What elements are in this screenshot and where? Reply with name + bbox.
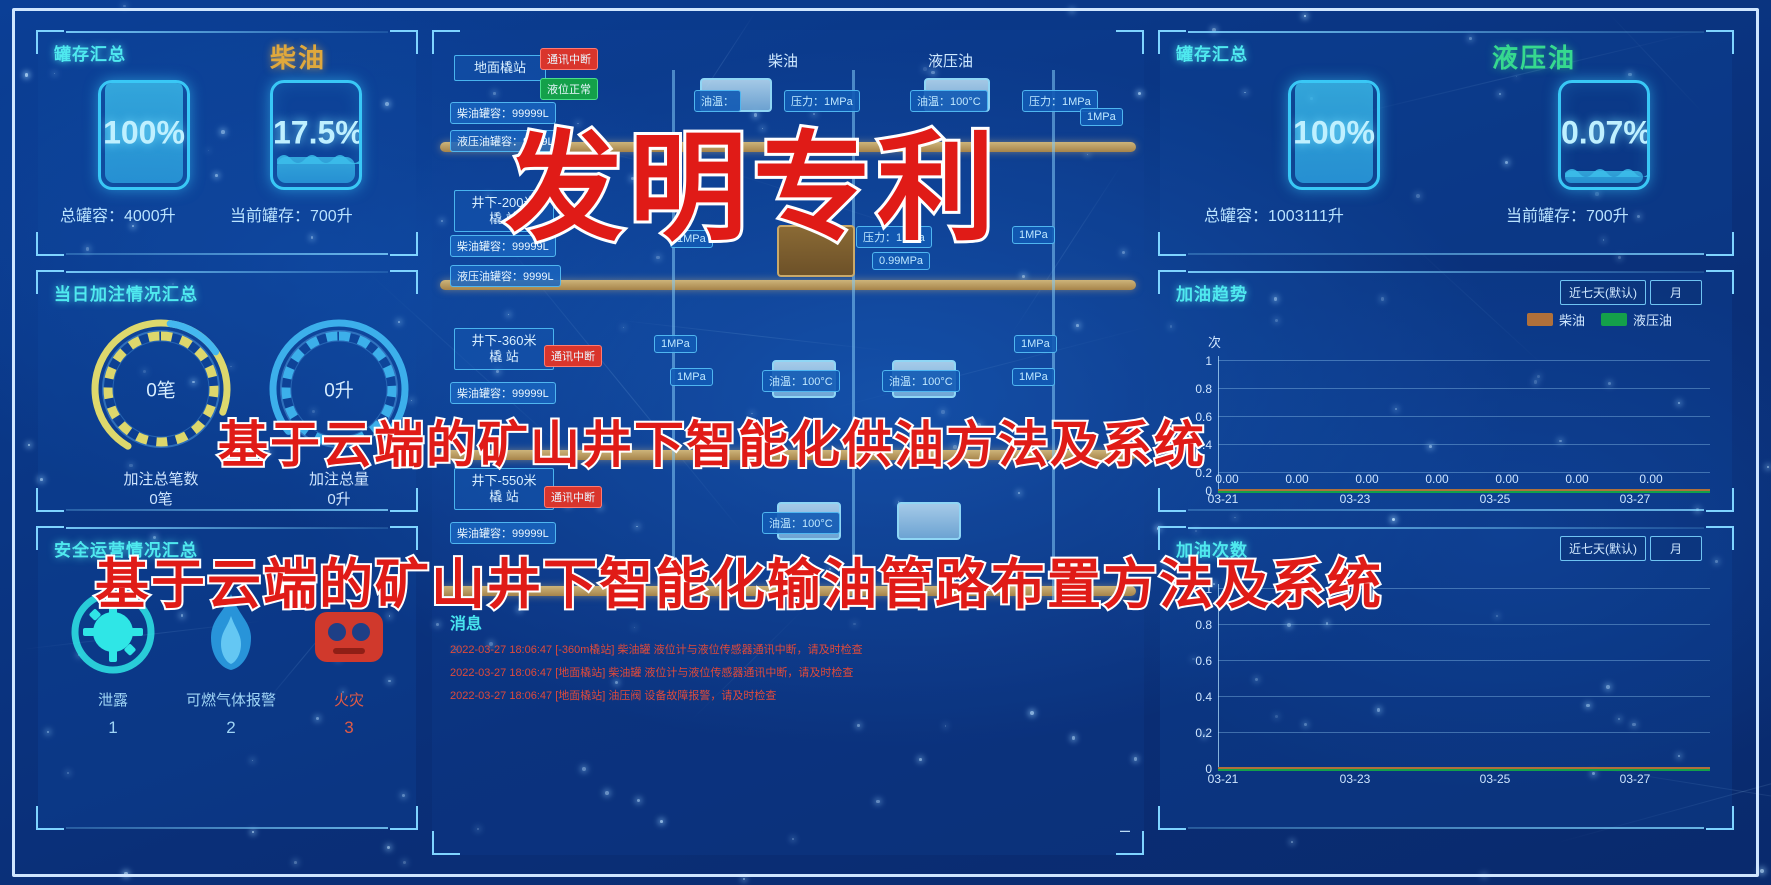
tank-gauge-current: 0.07% bbox=[1558, 80, 1650, 190]
particle-dot bbox=[25, 73, 29, 77]
panel-edge bbox=[66, 31, 388, 33]
range-select-seven-days[interactable]: 近七天(默认) bbox=[1560, 536, 1646, 561]
particle-dot bbox=[387, 846, 390, 849]
legend-label-hydraulic: 液压油 bbox=[1633, 313, 1672, 328]
vessel-hydraulic-550m bbox=[897, 502, 961, 540]
status-comm-550m: 通讯中断 bbox=[544, 486, 602, 508]
oil-type-label: 柴油 bbox=[270, 38, 326, 75]
message-log-line: 2022-03-27 18:06:47 [-360m橇站] 柴油罐 液位计与液位… bbox=[450, 641, 1120, 657]
range-select-month[interactable]: 月 bbox=[1650, 280, 1702, 305]
point-label: 0.00 bbox=[1344, 472, 1390, 486]
particle-dot bbox=[28, 444, 30, 446]
safety-label: 火灾 bbox=[284, 689, 414, 710]
status-comm-360m: 通讯中断 bbox=[544, 345, 602, 367]
corner-decoration bbox=[432, 30, 460, 54]
pressure-chip: 1MPa bbox=[670, 368, 713, 386]
legend-swatch-diesel bbox=[1527, 313, 1553, 326]
sensor-chip: 油温：100°C bbox=[762, 512, 840, 534]
particle-dot bbox=[1304, 15, 1306, 17]
panel-diesel-tank-summary: 罐存汇总 柴油 100% 总罐容：4000升 17.5% 当前罐存：700升 bbox=[38, 32, 416, 254]
minimize-icon[interactable]: – bbox=[1120, 820, 1130, 841]
y-tick: 0.8 bbox=[1178, 382, 1212, 396]
particle-streak bbox=[103, 0, 324, 7]
panel-edge bbox=[1188, 827, 1704, 829]
particle-dot bbox=[1760, 869, 1764, 873]
panel-title: 罐存汇总 bbox=[54, 40, 126, 65]
message-log-line: 2022-03-27 18:06:47 [地面橇站] 油压阀 设备故障报警，请及… bbox=[450, 687, 1120, 703]
corner-decoration bbox=[1158, 232, 1186, 256]
x-tick: 03-23 bbox=[1332, 492, 1378, 506]
safety-label: 泄露 bbox=[48, 689, 178, 710]
station-name-line2: 橇 站 bbox=[489, 489, 519, 504]
panel-hydraulic-tank-summary: 罐存汇总 液压油 100% 总罐容：1003111升 0.07% 当前罐存：70… bbox=[1160, 32, 1732, 254]
corner-decoration bbox=[390, 806, 418, 830]
tank-gauge-total: 100% bbox=[1288, 80, 1380, 190]
point-label: 0.00 bbox=[1554, 472, 1600, 486]
corner-decoration bbox=[1706, 526, 1734, 550]
panel-edge bbox=[66, 253, 388, 255]
legend-swatch-hydraulic bbox=[1601, 313, 1627, 326]
x-tick: 03-27 bbox=[1612, 492, 1658, 506]
corner-decoration bbox=[1116, 30, 1144, 54]
gridline bbox=[1218, 624, 1710, 625]
particle-dot bbox=[1482, 874, 1485, 877]
tank-capacity-caption: 总罐容：1003111升 bbox=[1204, 202, 1344, 226]
safety-value: 3 bbox=[284, 718, 414, 738]
particle-dot bbox=[124, 872, 127, 875]
x-tick: 03-21 bbox=[1200, 772, 1246, 786]
particle-dot bbox=[743, 878, 745, 880]
gauge-count-caption-line1: 加注总笔数 bbox=[123, 471, 198, 488]
panel-title: 当日加注情况汇总 bbox=[54, 280, 198, 305]
tank-stock-caption: 当前罐存：700升 bbox=[230, 202, 353, 226]
particle-dot bbox=[1767, 466, 1769, 468]
panel-edge bbox=[1188, 509, 1704, 511]
tank-fill bbox=[1565, 171, 1643, 183]
corner-decoration bbox=[390, 30, 418, 54]
particle-dot bbox=[1071, 10, 1072, 11]
watermark-patent-title-2: 基于云端的矿山井下智能化输油管路布置方法及系统 bbox=[95, 540, 1383, 619]
y-axis-unit: 次 bbox=[1208, 332, 1221, 351]
x-tick: 03-25 bbox=[1472, 772, 1518, 786]
gauge-refuel-count: 0笔 bbox=[86, 314, 236, 464]
pressure-chip: 1MPa bbox=[1012, 368, 1055, 386]
particle-dot bbox=[294, 861, 297, 864]
corner-decoration bbox=[1706, 30, 1734, 54]
gauge-value: 0升 bbox=[264, 376, 414, 403]
station-name-line2: 橇 站 bbox=[489, 349, 519, 364]
panel-refuel-trend-chart: 加油趋势 近七天(默认) 月 柴油液压油 次 1 0.8 0.6 0.4 0.2… bbox=[1160, 272, 1732, 510]
gridline bbox=[1218, 444, 1710, 445]
x-tick: 03-21 bbox=[1200, 492, 1246, 506]
corner-decoration bbox=[1706, 232, 1734, 256]
particle-dot bbox=[1291, 841, 1293, 843]
gridline bbox=[1218, 388, 1710, 389]
corner-decoration bbox=[390, 232, 418, 256]
particle-dot bbox=[1234, 517, 1236, 519]
wave-icon bbox=[1565, 163, 1650, 177]
particle-dot bbox=[403, 861, 406, 864]
x-tick: 03-25 bbox=[1472, 492, 1518, 506]
tank-percent-value: 100% bbox=[1291, 115, 1377, 152]
safety-value: 2 bbox=[166, 718, 296, 738]
gridline bbox=[1218, 696, 1710, 697]
y-tick: 0.4 bbox=[1178, 690, 1212, 704]
y-tick: 0.6 bbox=[1178, 654, 1212, 668]
gridline bbox=[1218, 416, 1710, 417]
point-label: 0.00 bbox=[1204, 472, 1250, 486]
tank-gauge-current: 17.5% bbox=[270, 80, 362, 190]
tank-percent-value: 17.5% bbox=[273, 115, 359, 152]
point-label: 0.00 bbox=[1274, 472, 1320, 486]
series-line-hydraulic bbox=[1218, 769, 1710, 771]
oil-type-label: 液压油 bbox=[1492, 38, 1576, 75]
gauge-count-caption-line2: 0笔 bbox=[149, 491, 172, 508]
safety-label: 可燃气体报警 bbox=[166, 689, 296, 710]
panel-edge bbox=[1188, 31, 1704, 33]
tank-percent-value: 100% bbox=[101, 115, 187, 152]
message-log: 消息 2022-03-27 18:06:47 [-360m橇站] 柴油罐 液位计… bbox=[450, 610, 1120, 703]
station-name-line1: 井下-360米 bbox=[471, 333, 536, 348]
chart-legend: 柴油液压油 bbox=[1527, 310, 1688, 329]
corner-decoration bbox=[1706, 806, 1734, 830]
panel-edge bbox=[1188, 253, 1704, 255]
corner-decoration bbox=[36, 488, 64, 512]
gauge-value: 0笔 bbox=[86, 376, 236, 403]
wave-icon bbox=[277, 150, 362, 164]
tank-stock-caption: 当前罐存：700升 bbox=[1506, 202, 1629, 226]
diesel-tank-360m: 柴油罐容：99999L bbox=[450, 382, 556, 404]
point-label: 0.00 bbox=[1628, 472, 1674, 486]
corner-decoration bbox=[1706, 488, 1734, 512]
gridline bbox=[1218, 660, 1710, 661]
corner-decoration bbox=[432, 831, 460, 855]
pressure-chip: 1MPa bbox=[1080, 108, 1123, 126]
corner-decoration bbox=[1706, 270, 1734, 294]
safety-value: 1 bbox=[48, 718, 178, 738]
panel-edge bbox=[66, 271, 388, 273]
station-label-ground[interactable]: 地面橇站 bbox=[454, 55, 546, 81]
y-tick: 0.8 bbox=[1178, 618, 1212, 632]
panel-edge bbox=[1188, 527, 1704, 529]
panel-title: 加油趋势 bbox=[1176, 280, 1248, 305]
station-label-360m[interactable]: 井下-360米 橇 站 bbox=[454, 328, 554, 370]
x-tick: 03-23 bbox=[1332, 772, 1378, 786]
range-select-seven-days[interactable]: 近七天(默认) bbox=[1560, 280, 1646, 305]
panel-edge bbox=[66, 827, 388, 829]
pressure-chip: 1MPa bbox=[1014, 335, 1057, 353]
y-tick: 0.2 bbox=[1178, 726, 1212, 740]
gauge-volume-caption-line2: 0升 bbox=[327, 491, 350, 508]
particle-dot bbox=[123, 5, 126, 8]
message-log-line: 2022-03-27 18:06:47 [地面橇站] 柴油罐 液位计与液位传感器… bbox=[450, 664, 1120, 680]
particle-streak bbox=[242, 0, 540, 1]
watermark-patent-badge: 发明专利 bbox=[505, 92, 1001, 263]
watermark-patent-title-1: 基于云端的矿山井下智能化供油方法及系统 bbox=[218, 405, 1206, 477]
tank-percent-value: 0.07% bbox=[1561, 115, 1647, 152]
panel-title: 罐存汇总 bbox=[1176, 40, 1248, 65]
sensor-chip: 油温：100°C bbox=[882, 370, 960, 392]
panel-edge bbox=[1188, 271, 1704, 273]
gridline bbox=[1218, 360, 1710, 361]
status-comm-ground: 通讯中断 bbox=[540, 48, 598, 70]
hydraulic-tank-200m: 液压油罐容：9999L bbox=[450, 265, 561, 287]
particle-dot bbox=[1392, 518, 1395, 521]
point-label: 0.00 bbox=[1414, 472, 1460, 486]
dashboard-screen: 罐存汇总 柴油 100% 总罐容：4000升 17.5% 当前罐存：700升 当… bbox=[0, 0, 1771, 885]
x-tick: 03-27 bbox=[1612, 772, 1658, 786]
column-header-hydraulic: 液压油 bbox=[922, 48, 979, 73]
range-select-month[interactable]: 月 bbox=[1650, 536, 1702, 561]
sensor-chip: 油温：100°C bbox=[762, 370, 840, 392]
corner-decoration bbox=[390, 270, 418, 294]
pressure-chip: 1MPa bbox=[654, 335, 697, 353]
corner-decoration bbox=[36, 232, 64, 256]
particle-dot bbox=[252, 831, 254, 833]
tank-capacity-caption: 总罐容：4000升 bbox=[60, 202, 176, 226]
corner-decoration bbox=[1158, 806, 1186, 830]
panel-edge bbox=[66, 527, 388, 529]
particle-dot bbox=[1618, 256, 1621, 259]
column-header-diesel: 柴油 bbox=[762, 48, 804, 73]
gauge-count-caption: 加注总笔数 0笔 bbox=[86, 470, 236, 510]
pressure-chip: 1MPa bbox=[1012, 226, 1055, 244]
tank-gauge-total: 100% bbox=[98, 80, 190, 190]
gridline bbox=[1218, 732, 1710, 733]
legend-label-diesel: 柴油 bbox=[1559, 313, 1585, 328]
tank-fill bbox=[277, 157, 355, 183]
corner-decoration bbox=[36, 806, 64, 830]
point-label: 0.00 bbox=[1484, 472, 1530, 486]
y-tick: 1 bbox=[1178, 354, 1212, 368]
